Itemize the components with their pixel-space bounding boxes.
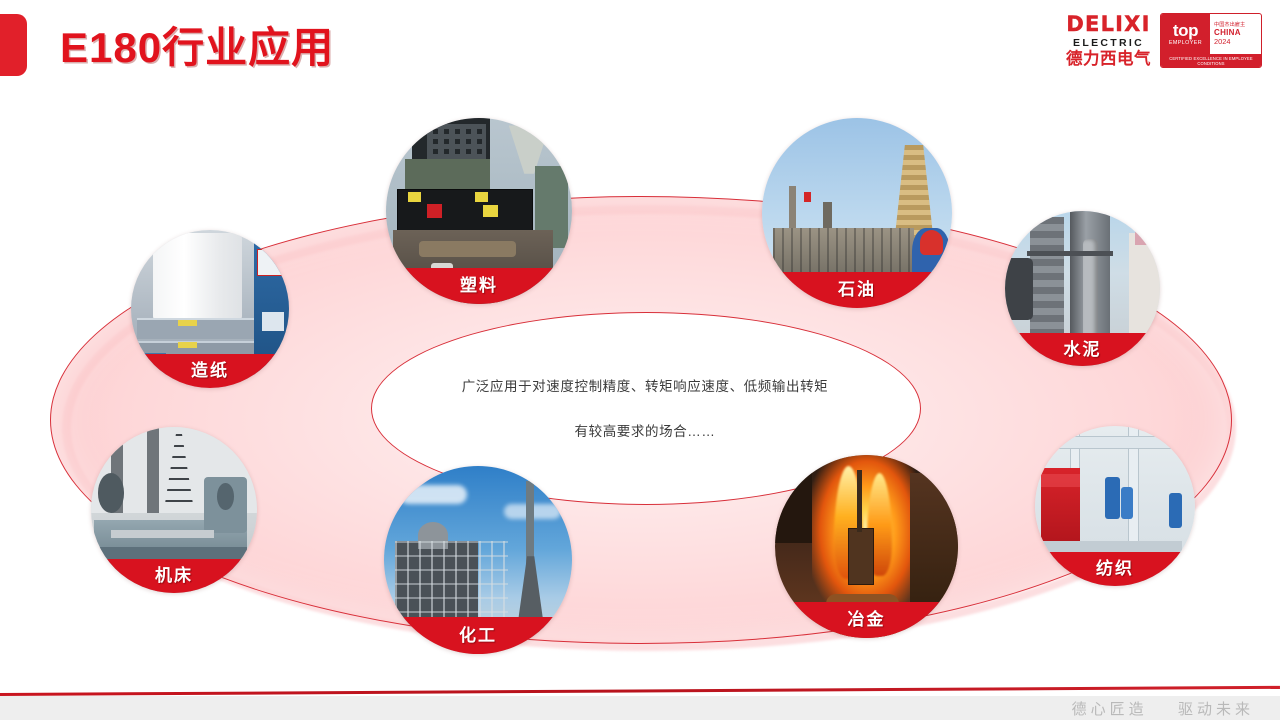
industry-node-纺织[interactable]: 纺织 [1035, 426, 1195, 586]
slide-canvas: E180行业应用 DELIXI ELECTRIC 德力西电气 top EMPLO… [0, 0, 1280, 720]
badge-top-word: top [1173, 23, 1198, 38]
center-description-line-2: 有较高要求的场合…… [575, 420, 716, 440]
footer-rule [0, 686, 1280, 696]
top-employer-badge: top EMPLOYER 中国杰出雇主 CHINA 2024 CERTIFIED… [1160, 13, 1262, 68]
delixi-subtitle: ELECTRIC [1073, 38, 1144, 49]
industry-node-化工[interactable]: 化工 [384, 466, 572, 654]
industry-label-石油: 石油 [762, 272, 952, 308]
industry-node-石油[interactable]: 石油 [762, 118, 952, 308]
industry-label-造纸: 造纸 [131, 354, 289, 388]
badge-caption: CERTIFIED EXCELLENCE IN EMPLOYEE CONDITI… [1161, 54, 1261, 67]
industry-node-水泥[interactable]: 水泥 [1005, 211, 1160, 366]
industry-node-塑料[interactable]: 塑料 [386, 118, 572, 304]
logo-area: DELIXI ELECTRIC 德力西电气 top EMPLOYER 中国杰出雇… [1066, 13, 1262, 68]
industry-node-冶金[interactable]: 冶金 [775, 455, 958, 638]
badge-right-panel: 中国杰出雇主 CHINA 2024 [1210, 14, 1261, 54]
delixi-chinese-name: 德力西电气 [1066, 51, 1151, 68]
industry-label-化工: 化工 [384, 617, 572, 654]
industry-node-机床[interactable]: 机床 [91, 427, 257, 593]
industry-label-冶金: 冶金 [775, 602, 958, 638]
badge-country: CHINA [1214, 28, 1261, 37]
delixi-logo: DELIXI ELECTRIC 德力西电气 [1066, 14, 1151, 68]
industry-label-塑料: 塑料 [386, 268, 572, 304]
badge-year: 2024 [1214, 37, 1261, 46]
badge-employer-word: EMPLOYER [1169, 40, 1202, 46]
footer-slogan-left: 德心匠造 [1072, 701, 1148, 718]
badge-left-panel: top EMPLOYER [1161, 14, 1210, 54]
corner-accent-tab [0, 14, 27, 76]
industry-label-纺织: 纺织 [1035, 552, 1195, 586]
footer-slogan-right: 驱动未来 [1178, 701, 1254, 718]
delixi-wordmark: DELIXI [1066, 14, 1150, 35]
industry-label-机床: 机床 [91, 559, 257, 593]
footer-slogan: 德心匠造 驱动未来 [1072, 698, 1254, 719]
center-description-line-1: 广泛应用于对速度控制精度、转矩响应速度、低频输出转矩 [462, 375, 829, 395]
industry-node-造纸[interactable]: 造纸 [131, 230, 289, 388]
page-title: E180行业应用 [60, 21, 334, 75]
industry-label-水泥: 水泥 [1005, 333, 1160, 366]
